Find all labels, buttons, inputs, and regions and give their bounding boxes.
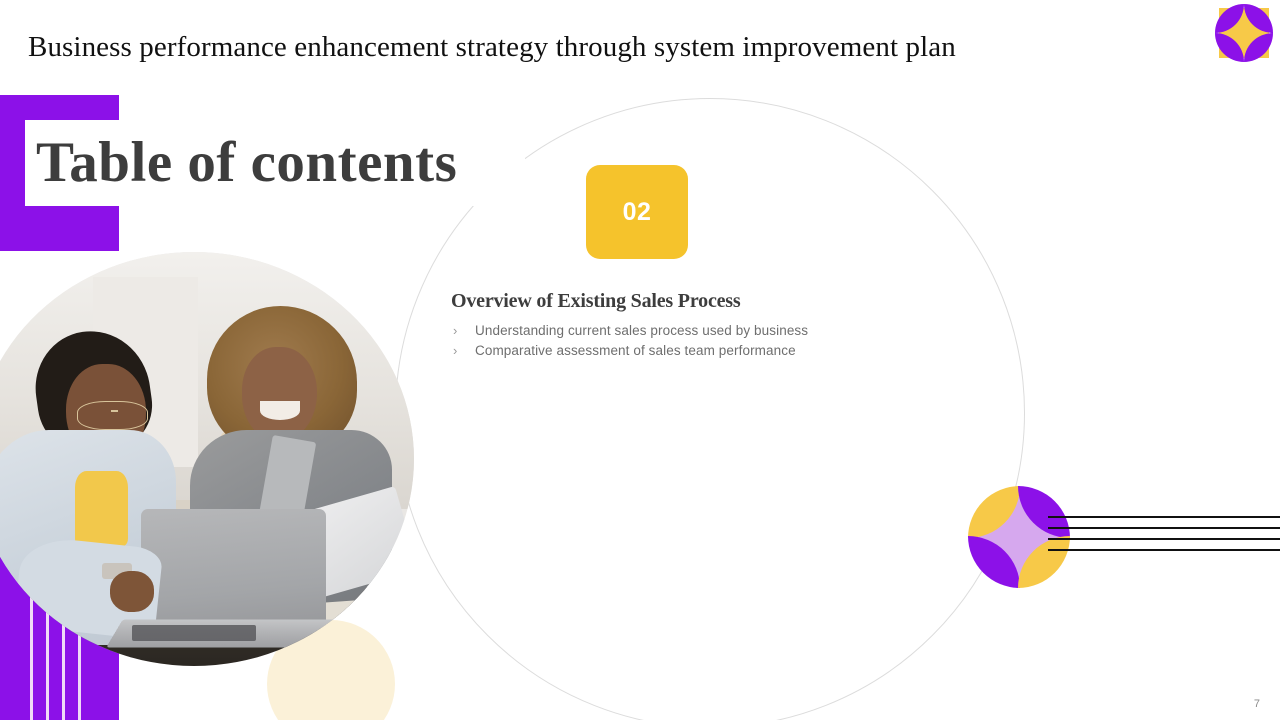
slide-title: Business performance enhancement strateg… <box>28 27 1208 67</box>
list-item-label: Comparative assessment of sales team per… <box>475 343 796 358</box>
page-number: 7 <box>1254 698 1260 710</box>
list-item: › Understanding current sales process us… <box>451 321 921 341</box>
photo-laptop-keyboard <box>132 625 255 642</box>
section-bullet-list: › Understanding current sales process us… <box>451 321 921 360</box>
rule-line-1 <box>1048 516 1280 518</box>
page-title: Table of contents <box>36 126 457 200</box>
photo-person-right-smile <box>260 401 300 420</box>
section-number-badge: 02 <box>586 165 688 259</box>
photo-person-left-hand <box>110 571 154 612</box>
photo-person-left-glasses <box>77 401 147 430</box>
brand-logo-icon <box>1213 2 1275 64</box>
pinwheel-flower-icon <box>968 486 1070 588</box>
rule-line-3 <box>1048 538 1280 540</box>
list-item-label: Understanding current sales process used… <box>475 323 808 338</box>
slide-canvas: Business performance enhancement strateg… <box>0 0 1280 720</box>
chevron-right-icon: › <box>453 321 457 341</box>
rule-line-4 <box>1048 549 1280 551</box>
team-photo <box>0 252 414 666</box>
photo-person-left-shirt <box>75 471 128 546</box>
photo-scene <box>0 252 414 666</box>
rule-line-2 <box>1048 527 1280 529</box>
list-item: › Comparative assessment of sales team p… <box>451 341 921 361</box>
chevron-right-icon: › <box>453 341 457 361</box>
photo-laptop-screen <box>141 509 326 625</box>
section-number-label: 02 <box>586 198 688 227</box>
section-heading: Overview of Existing Sales Process <box>451 288 740 314</box>
